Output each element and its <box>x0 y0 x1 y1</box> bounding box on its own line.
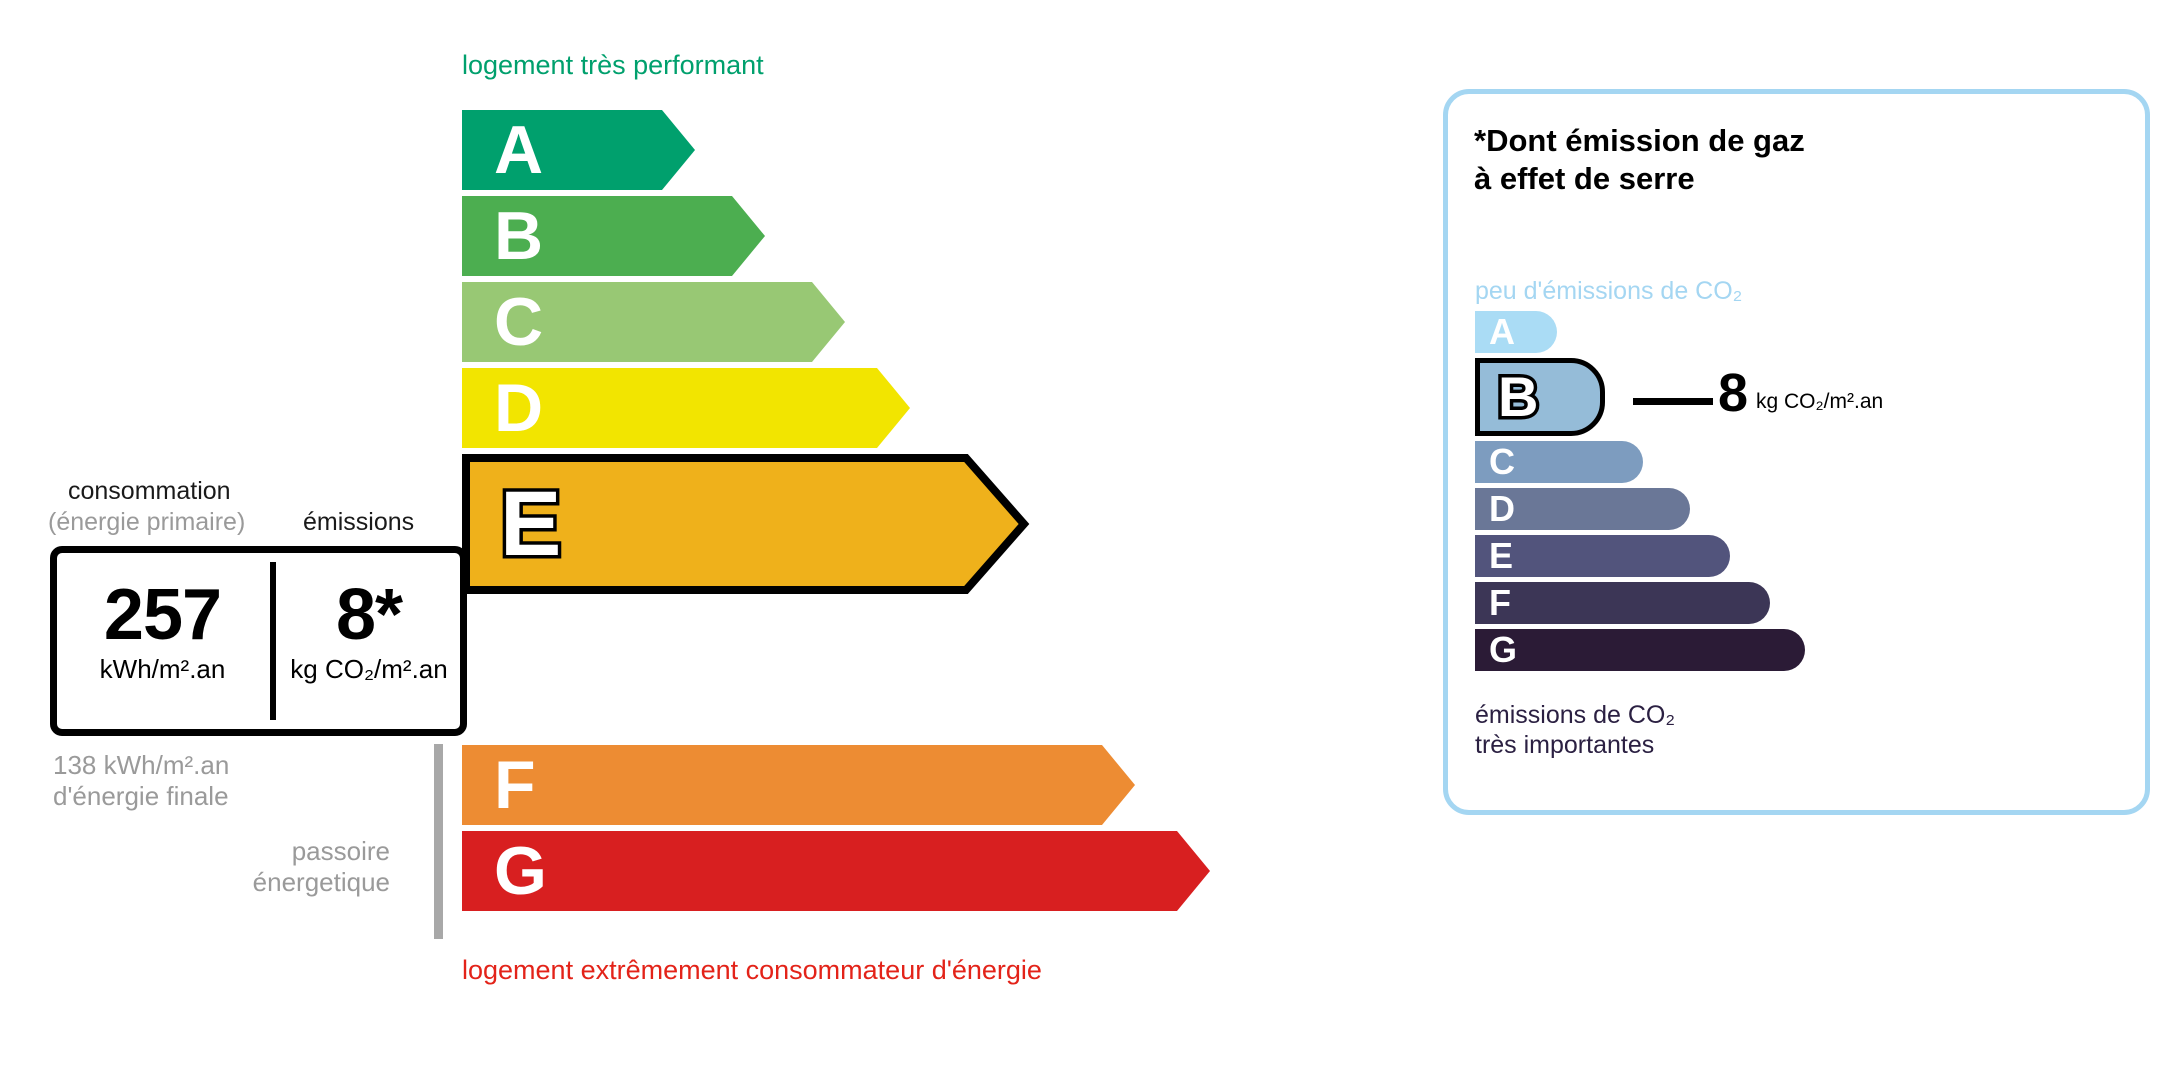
co2-panel-title: *Dont émission de gaz à effet de serre <box>1474 122 1805 198</box>
co2-band-e-letter: E <box>1489 538 1513 574</box>
energy-band-b[interactable]: B <box>462 196 765 276</box>
energy-band-f[interactable]: F <box>462 745 1135 825</box>
energy-performance-chart: logement très performant A B C D E <box>0 0 1400 1079</box>
band-d-shape <box>462 368 910 448</box>
energy-bottom-caption: logement extrêmement consommateur d'éner… <box>462 955 1042 986</box>
co2-title-line2: à effet de serre <box>1474 160 1805 198</box>
energy-unit: kWh/m².an <box>55 654 270 685</box>
co2-band-d-letter: D <box>1489 491 1515 527</box>
co2-band-g-letter: G <box>1489 632 1517 668</box>
co2-bottom-caption: émissions de CO₂ très importantes <box>1475 700 1675 760</box>
co2-bottom-line2: très importantes <box>1475 730 1675 760</box>
band-a-shape <box>462 110 695 190</box>
co2-top-caption: peu d'émissions de CO₂ <box>1475 277 1742 306</box>
passoire-line1: passoire <box>120 836 390 867</box>
band-c-shape <box>462 282 845 362</box>
co2-band-a[interactable]: A <box>1475 311 1557 353</box>
co2-band-f-letter: F <box>1489 585 1511 621</box>
co2-band-c[interactable]: C <box>1475 441 1643 483</box>
passoire-line2: énergetique <box>120 867 390 898</box>
energy-value: 257 <box>55 582 270 648</box>
co2-bar-c-shape: C <box>1475 441 1643 483</box>
band-b-shape <box>462 196 765 276</box>
co2-band-f[interactable]: F <box>1475 582 1770 624</box>
co2-bar-e-shape: E <box>1475 535 1730 577</box>
co2-bar-a-shape: A <box>1475 311 1557 353</box>
band-g-shape <box>462 831 1210 911</box>
label-energie-finale: 138 kWh/m².an d'énergie finale <box>53 750 229 812</box>
co2-callout-unit: kg CO₂/m².an <box>1756 390 1883 414</box>
label-energie-primaire: (énergie primaire) <box>48 508 245 537</box>
co2-band-d[interactable]: D <box>1475 488 1690 530</box>
label-consommation: consommation <box>68 477 231 506</box>
co2-value-cell: 8* kg CO₂/m².an <box>276 582 462 685</box>
band-e-shape <box>462 454 1032 594</box>
co2-value-main: 8* <box>276 582 462 648</box>
co2-bar-b-shape: B <box>1475 358 1605 436</box>
co2-band-b-letter: B <box>1498 369 1538 425</box>
energy-band-a[interactable]: A <box>462 110 695 190</box>
co2-bar-g-shape: G <box>1475 629 1805 671</box>
label-passoire-energetique: passoire énergetique <box>120 836 390 898</box>
co2-bar-d-shape: D <box>1475 488 1690 530</box>
energy-value-cell: 257 kWh/m².an <box>55 582 270 685</box>
co2-band-g[interactable]: G <box>1475 629 1805 671</box>
band-f-shape <box>462 745 1135 825</box>
co2-band-c-letter: C <box>1489 444 1515 480</box>
co2-callout-line <box>1633 398 1713 405</box>
co2-band-b-selected[interactable]: B <box>1475 358 1605 436</box>
co2-unit-main: kg CO₂/m².an <box>276 654 462 685</box>
energy-band-c[interactable]: C <box>462 282 845 362</box>
co2-bar-f-shape: F <box>1475 582 1770 624</box>
passoire-indicator-bar <box>434 744 443 939</box>
label-emissions: émissions <box>303 508 414 537</box>
final-energy-line2: d'énergie finale <box>53 781 229 812</box>
energy-band-g[interactable]: G <box>462 831 1210 911</box>
co2-callout-value: 8 <box>1718 366 1748 420</box>
energy-band-d[interactable]: D <box>462 368 910 448</box>
energy-top-caption: logement très performant <box>462 50 764 81</box>
co2-band-e[interactable]: E <box>1475 535 1730 577</box>
final-energy-line1: 138 kWh/m².an <box>53 750 229 781</box>
energy-band-e-selected[interactable]: E <box>462 454 1032 594</box>
co2-title-line1: *Dont émission de gaz <box>1474 122 1805 160</box>
co2-band-a-letter: A <box>1489 314 1515 350</box>
co2-bottom-line1: émissions de CO₂ <box>1475 700 1675 730</box>
